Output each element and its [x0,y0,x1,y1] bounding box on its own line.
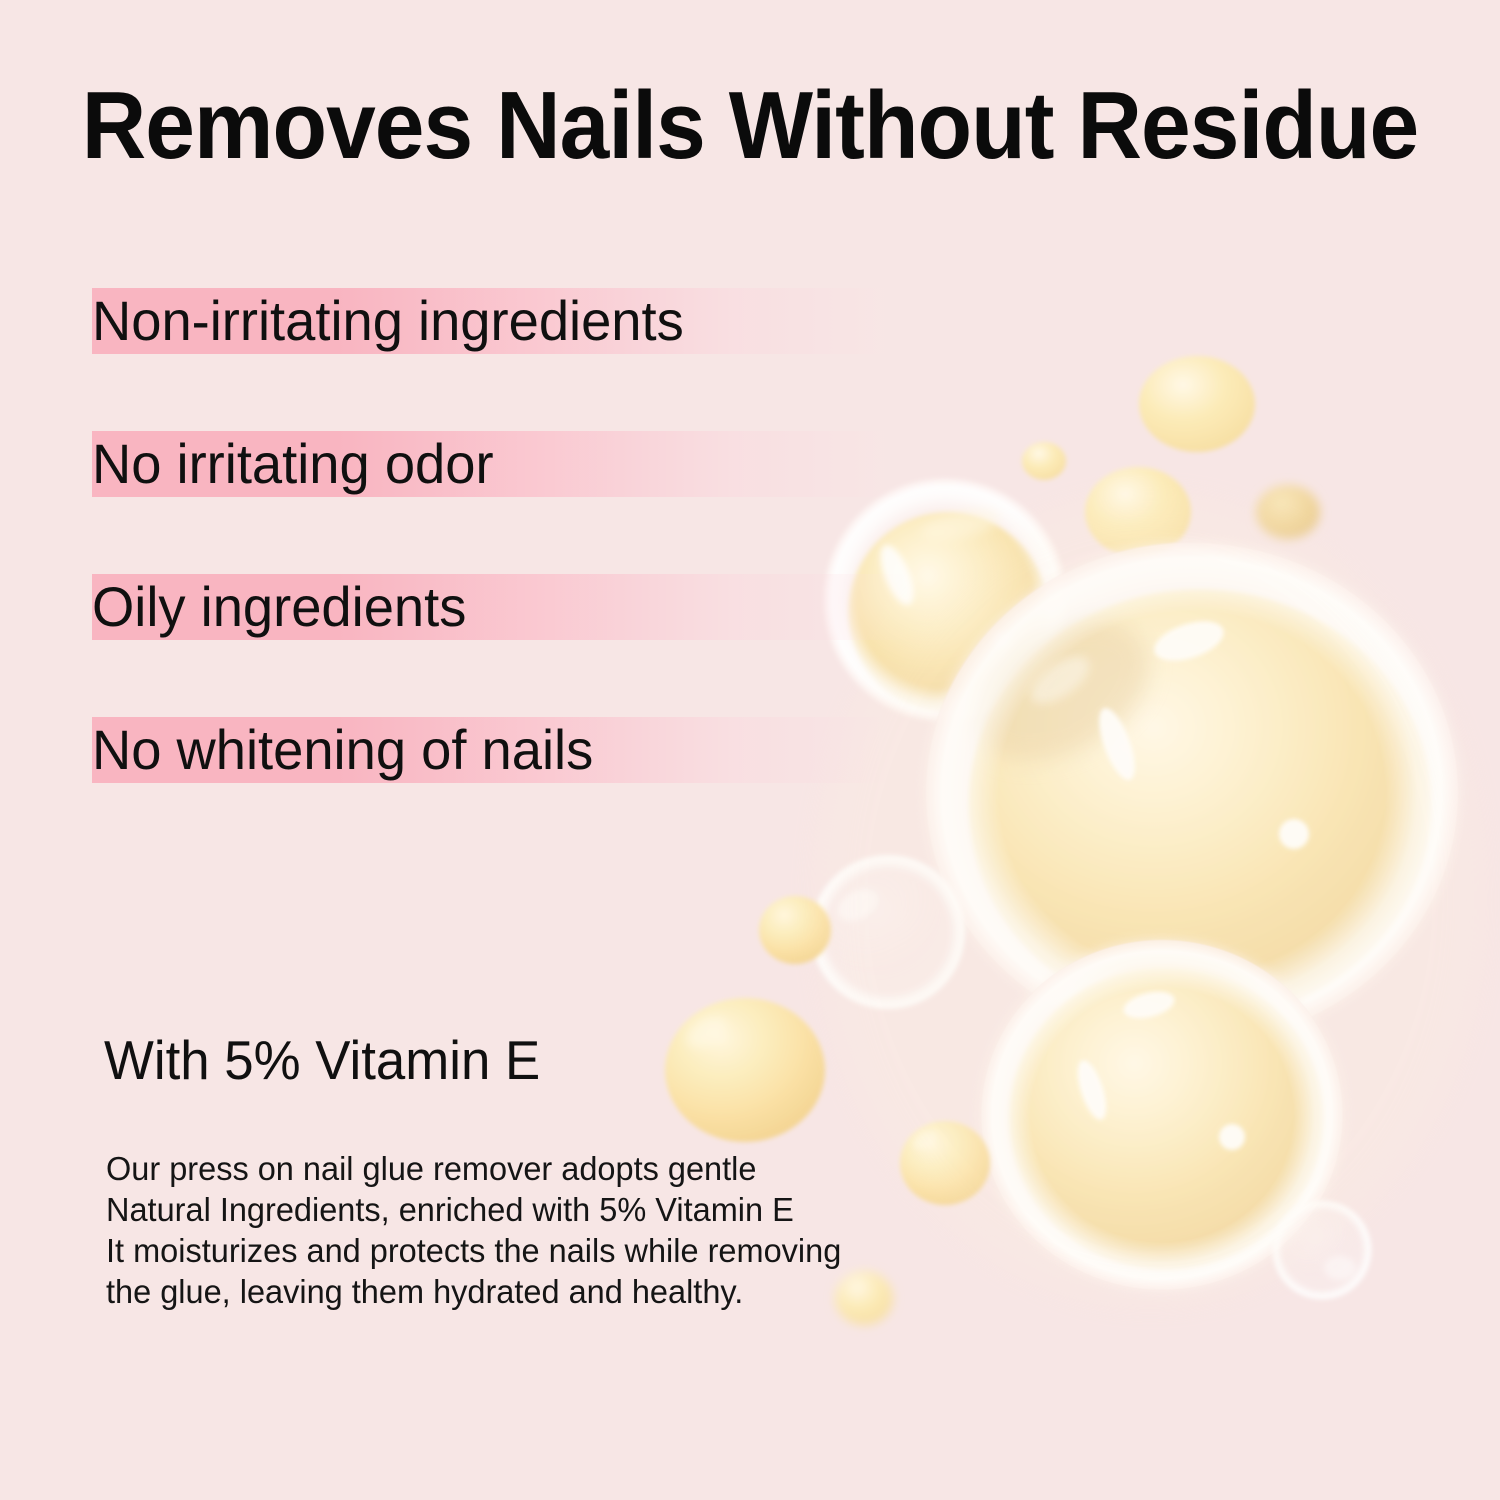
feature-label: Non-irritating ingredients [92,288,684,354]
feature-label: Oily ingredients [92,574,466,640]
feature-label: No irritating odor [92,431,494,497]
description-line: the glue, leaving them hydrated and heal… [106,1271,953,1312]
description-line: Natural Ingredients, enriched with 5% Vi… [106,1189,953,1230]
feature-item-no-whitening-of-nails: No whitening of nails [92,717,972,783]
vitamin-description: Our press on nail glue remover adopts ge… [106,1148,953,1312]
description-line: It moisturizes and protects the nails wh… [106,1230,953,1271]
product-feature-graphic: Removes Nails Without Residue Non-irrita… [0,0,1500,1500]
feature-label: No whitening of nails [92,717,593,783]
feature-item-no-irritating-odor: No irritating odor [92,431,972,497]
feature-item-oily-ingredients: Oily ingredients [92,574,972,640]
feature-list: Non-irritating ingredients No irritating… [92,288,972,783]
description-line: Our press on nail glue remover adopts ge… [106,1148,953,1189]
vitamin-heading: With 5% Vitamin E [104,1030,540,1091]
feature-item-non-irritating-ingredients: Non-irritating ingredients [92,288,972,354]
page-title: Removes Nails Without Residue [53,78,1448,174]
